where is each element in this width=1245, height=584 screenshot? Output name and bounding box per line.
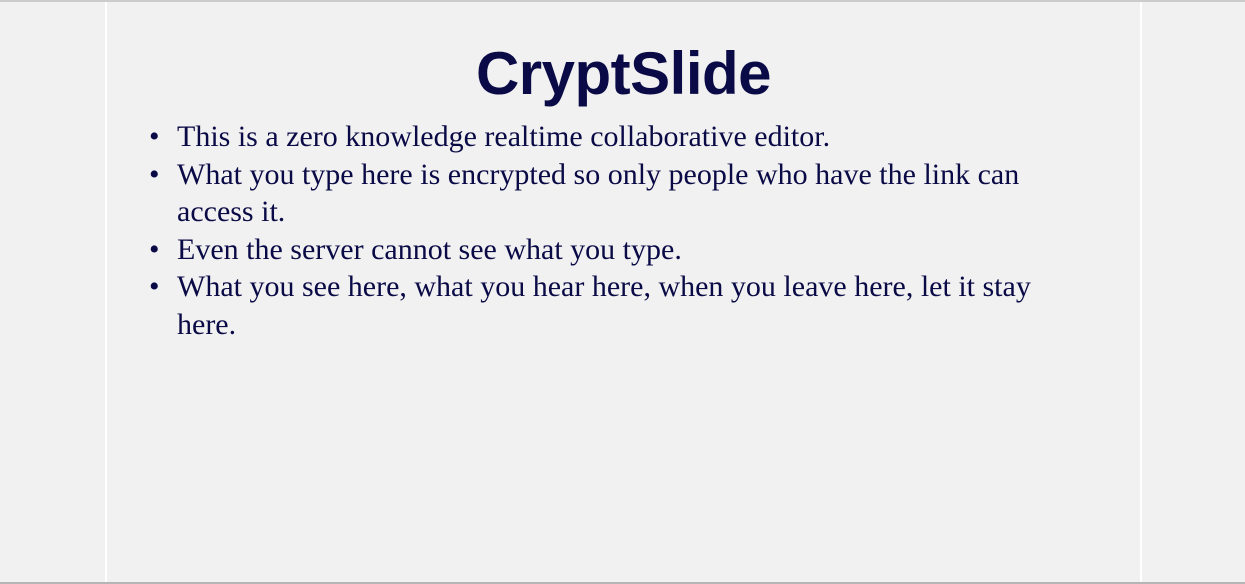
list-item-text[interactable]: What you type here is encrypted so only … [177, 156, 1078, 231]
bullet-point-icon: • [149, 156, 163, 194]
list-item[interactable]: • This is a zero knowledge realtime coll… [107, 118, 1140, 156]
list-item[interactable]: • What you see here, what you hear here,… [107, 268, 1140, 343]
slide-canvas-right-edge [1140, 2, 1142, 582]
slide-canvas[interactable]: CryptSlide • This is a zero knowledge re… [107, 2, 1140, 582]
bullet-point-icon: • [149, 118, 163, 156]
bullet-point-icon: • [149, 268, 163, 306]
list-item-text[interactable]: Even the server cannot see what you type… [177, 231, 1078, 269]
slide-bullet-list[interactable]: • This is a zero knowledge realtime coll… [107, 118, 1140, 343]
workspace-gutter-right [1142, 2, 1245, 582]
workspace-gutter-left [0, 2, 105, 582]
slide-editor-root: CryptSlide • This is a zero knowledge re… [0, 0, 1245, 584]
list-item[interactable]: • What you type here is encrypted so onl… [107, 156, 1140, 231]
slide-title[interactable]: CryptSlide [107, 2, 1140, 104]
list-item-text[interactable]: This is a zero knowledge realtime collab… [177, 118, 1078, 156]
list-item-text[interactable]: What you see here, what you hear here, w… [177, 268, 1078, 343]
bullet-point-icon: • [149, 231, 163, 269]
list-item[interactable]: • Even the server cannot see what you ty… [107, 231, 1140, 269]
